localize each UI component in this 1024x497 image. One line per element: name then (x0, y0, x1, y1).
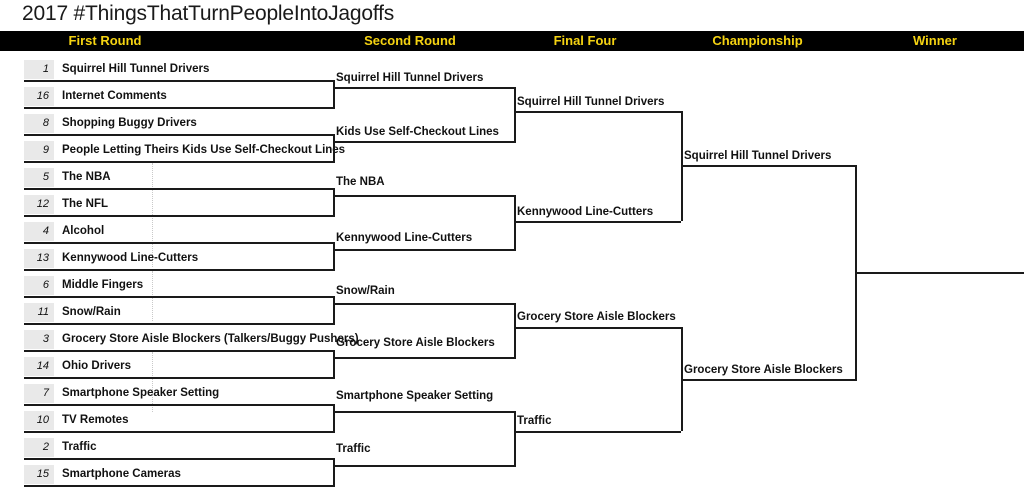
second-round-team: Kennywood Line-Cutters (336, 232, 472, 245)
connector-r2-pair-4 (514, 411, 516, 467)
championship-team: Squirrel Hill Tunnel Drivers (684, 150, 831, 163)
bracket-row[interactable]: 7 Smartphone Speaker Setting (24, 384, 334, 406)
team-name: Alcohol (62, 222, 104, 241)
team-name: Snow/Rain (62, 303, 121, 322)
seed-number: 4 (24, 222, 54, 241)
bracket-row[interactable]: 4 Alcohol (24, 222, 334, 244)
row-rule (24, 458, 334, 460)
seed-number: 14 (24, 357, 54, 376)
seed-number: 5 (24, 168, 54, 187)
bracket-row[interactable]: 16 Internet Comments (24, 87, 334, 109)
second-round-rule (333, 249, 514, 251)
row-rule (24, 134, 334, 136)
seed-number: 1 (24, 60, 54, 79)
connector-r2-pair-1 (514, 87, 516, 143)
bracket-row[interactable]: 15 Smartphone Cameras (24, 465, 334, 487)
row-rule (24, 161, 334, 163)
second-round-rule (333, 141, 514, 143)
round-header-first-round: First Round (20, 31, 190, 51)
row-rule (24, 296, 334, 298)
seed-number: 15 (24, 465, 54, 484)
row-rule (24, 107, 334, 109)
team-name: TV Remotes (62, 411, 128, 430)
seed-number: 3 (24, 330, 54, 349)
team-name: Smartphone Speaker Setting (62, 384, 219, 403)
row-rule (24, 485, 334, 487)
second-round-team: Kids Use Self-Checkout Lines (336, 126, 499, 139)
team-name: People Letting Theirs Kids Use Self-Chec… (62, 141, 345, 160)
second-round-rule (333, 195, 514, 197)
round-header-final-four: Final Four (505, 31, 665, 51)
bracket-row[interactable]: 10 TV Remotes (24, 411, 334, 433)
seed-number: 8 (24, 114, 54, 133)
connector-r1-pair-2 (333, 134, 335, 163)
team-name: Shopping Buggy Drivers (62, 114, 197, 133)
second-round-team: The NBA (336, 176, 385, 189)
seed-number: 7 (24, 384, 54, 403)
second-round-rule (333, 465, 514, 467)
second-round-rule (333, 357, 514, 359)
page-title: 2017 #ThingsThatTurnPeopleIntoJagoffs (22, 2, 394, 26)
seed-number: 12 (24, 195, 54, 214)
team-name: Internet Comments (62, 87, 167, 106)
team-name: Grocery Store Aisle Blockers (Talkers/Bu… (62, 330, 359, 349)
connector-r1-pair-4 (333, 242, 335, 271)
team-name: The NFL (62, 195, 108, 214)
second-round-rule (333, 411, 514, 413)
team-name: Ohio Drivers (62, 357, 131, 376)
connector-r1-pair-1 (333, 80, 335, 109)
second-round-rule (333, 87, 514, 89)
team-name: Smartphone Cameras (62, 465, 181, 484)
row-rule (24, 431, 334, 433)
bracket-row[interactable]: 9 People Letting Theirs Kids Use Self-Ch… (24, 141, 334, 163)
second-round-team: Grocery Store Aisle Blockers (336, 337, 495, 350)
bracket-page: 2017 #ThingsThatTurnPeopleIntoJagoffs Fi… (0, 0, 1024, 497)
final-four-team: Kennywood Line-Cutters (517, 206, 653, 219)
bracket-row[interactable]: 1 Squirrel Hill Tunnel Drivers (24, 60, 334, 82)
seed-number: 16 (24, 87, 54, 106)
second-round-team: Traffic (336, 443, 371, 456)
row-rule (24, 404, 334, 406)
row-rule (24, 80, 334, 82)
bracket-row[interactable]: 8 Shopping Buggy Drivers (24, 114, 334, 136)
final-four-team: Traffic (517, 415, 552, 428)
connector-r1-pair-5 (333, 296, 335, 325)
final-four-rule (514, 327, 681, 329)
row-rule (24, 350, 334, 352)
connector-r2-pair-2 (514, 195, 516, 251)
connector-r1-pair-8 (333, 458, 335, 487)
bracket-row[interactable]: 14 Ohio Drivers (24, 357, 334, 379)
row-rule (24, 269, 334, 271)
second-round-team: Snow/Rain (336, 285, 395, 298)
bracket-row[interactable]: 6 Middle Fingers (24, 276, 334, 298)
seed-number: 11 (24, 303, 54, 322)
seed-number: 2 (24, 438, 54, 457)
team-name: Traffic (62, 438, 97, 457)
final-four-rule (514, 431, 681, 433)
team-name: Kennywood Line-Cutters (62, 249, 198, 268)
team-name: Middle Fingers (62, 276, 143, 295)
row-rule (24, 215, 334, 217)
final-four-rule (514, 221, 681, 223)
bracket-row[interactable]: 5 The NBA (24, 168, 334, 190)
final-four-rule (514, 111, 681, 113)
second-round-rule (333, 303, 514, 305)
connector-r1-pair-6 (333, 350, 335, 379)
row-rule (24, 242, 334, 244)
final-four-team: Grocery Store Aisle Blockers (517, 311, 676, 324)
second-round-team: Squirrel Hill Tunnel Drivers (336, 72, 483, 85)
round-header-second-round: Second Round (325, 31, 495, 51)
team-name: Squirrel Hill Tunnel Drivers (62, 60, 209, 79)
second-round-team: Smartphone Speaker Setting (336, 390, 493, 403)
seed-number: 9 (24, 141, 54, 160)
championship-team: Grocery Store Aisle Blockers (684, 364, 843, 377)
final-four-team: Squirrel Hill Tunnel Drivers (517, 96, 664, 109)
bracket-row[interactable]: 3 Grocery Store Aisle Blockers (Talkers/… (24, 330, 334, 352)
row-rule (24, 188, 334, 190)
bracket-row[interactable]: 13 Kennywood Line-Cutters (24, 249, 334, 271)
bracket-row[interactable]: 2 Traffic (24, 438, 334, 460)
championship-rule (681, 165, 855, 167)
seed-number: 10 (24, 411, 54, 430)
row-rule (24, 323, 334, 325)
connector-r1-pair-3 (333, 188, 335, 217)
connector-r2-pair-3 (514, 303, 516, 359)
bracket-row[interactable]: 11 Snow/Rain (24, 303, 334, 325)
bracket-row[interactable]: 12 The NFL (24, 195, 334, 217)
championship-rule (681, 379, 855, 381)
row-rule (24, 377, 334, 379)
round-header-championship: Championship (675, 31, 840, 51)
connector-r1-pair-7 (333, 404, 335, 433)
round-header-winner: Winner (855, 31, 1015, 51)
seed-number: 6 (24, 276, 54, 295)
seed-number: 13 (24, 249, 54, 268)
team-name: The NBA (62, 168, 111, 187)
winner-rule (855, 272, 1024, 274)
